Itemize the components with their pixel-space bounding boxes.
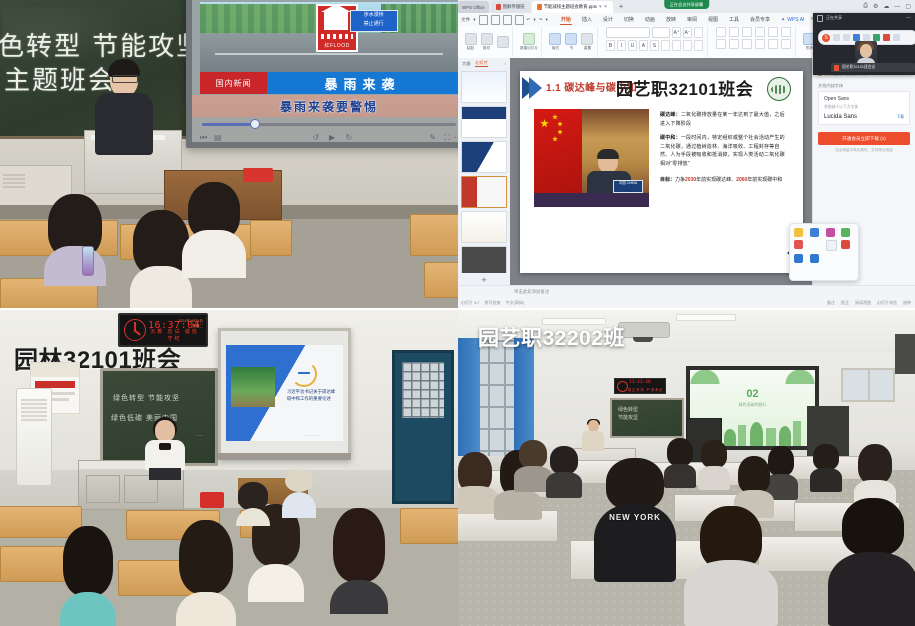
missing-font-section-label: 文档内缺字体 (818, 83, 910, 89)
ppt-icon (537, 4, 542, 10)
news-tag: 国内新闻 (200, 72, 267, 94)
reset-icon (581, 33, 593, 45)
tab-dropdown-icon[interactable]: ▾ (599, 4, 602, 10)
projection-screen: 习近平总书记关于碳达峰碳中和工作的重要论述 — — — — (218, 328, 351, 460)
new-slide-button[interactable]: 新建幻灯片 (520, 33, 538, 51)
underline-button[interactable]: U (628, 40, 637, 51)
thumbnail-slide-4[interactable] (461, 176, 507, 208)
news-headline: 暴雨来袭 (267, 72, 458, 94)
cut-icon (481, 33, 493, 45)
student (44, 194, 106, 286)
flood-label: 红FLOOD (318, 42, 356, 49)
air-conditioner (16, 388, 52, 486)
columns-icon[interactable] (768, 39, 778, 49)
student-seating (0, 200, 458, 308)
student (182, 182, 246, 278)
tab-transition[interactable]: 切换 (623, 15, 635, 24)
panel-lecture-hall: 色转型 节能攻坚 主题班会 红FLOOD 涉水漫桥 禁止通行 (0, 0, 458, 308)
file-menu[interactable]: 文件 (461, 17, 470, 23)
video-progress-handle[interactable] (250, 119, 260, 129)
cta-footnote: 包含海量字体及素材，支持商业用途 (813, 148, 915, 153)
missing-font-1: Open Sans (824, 96, 904, 102)
share-icon (817, 15, 823, 22)
blackboard-signature: ~~~ (196, 433, 203, 438)
screenshot-icon[interactable]: ▤ (214, 133, 222, 142)
current-slide[interactable]: 1.1 碳达峰与碳中和 园艺职32101班会 (520, 71, 803, 273)
pin-icon[interactable] (794, 240, 803, 249)
bullets-icon[interactable] (716, 27, 726, 37)
section-button[interactable]: 节 (565, 33, 578, 51)
thumbnail-slide-1[interactable] (461, 71, 507, 103)
form-icon-2[interactable] (810, 254, 819, 263)
text-direction-icon[interactable] (781, 27, 791, 37)
student-foreground: NEW YORK (594, 458, 676, 582)
gear-icon[interactable]: ⚙ (873, 3, 878, 10)
wps-ai-button[interactable]: ✦ WPS AI (781, 17, 804, 23)
tab-slideshow[interactable]: 放映 (665, 15, 677, 24)
pdf-icon[interactable] (841, 240, 850, 249)
teacher (580, 420, 606, 456)
tab-slides[interactable]: 幻灯片 (475, 60, 488, 67)
spellcheck-status[interactable]: 拼写检查 (485, 300, 501, 306)
slide-paragraph-2: 碳中和：一段时间内，特定组织或整个社会活动产生的二氧化碳，通过植树造林、海洋吸收… (660, 134, 789, 168)
pen-icon[interactable]: ✎ (429, 133, 436, 142)
projection-screen: 红FLOOD 涉水漫桥 禁止通行 国内新闻 暴雨来袭 暴雨来袭要警惕 (186, 0, 458, 148)
slide-number: 02 (746, 388, 758, 400)
chevron-down-icon[interactable]: ▾ (473, 17, 475, 23)
school-emblem-icon (767, 77, 791, 101)
sogou-input-icon[interactable]: S (822, 34, 830, 42)
section-icon (565, 33, 577, 45)
led-time: 11:43:48 (629, 380, 651, 385)
chinese-mode-icon[interactable] (833, 34, 840, 41)
align-right-icon[interactable] (742, 39, 752, 49)
slide-paragraph-1: 碳达峰：二氧化碳排放量在某一年达到了最大值，之后进入下降阶段 (660, 111, 789, 128)
new-slide-icon (523, 33, 535, 45)
font-size-input[interactable] (652, 27, 670, 38)
curtain-left (458, 338, 480, 456)
format-painter-icon[interactable] (515, 15, 524, 25)
font-name-input[interactable] (606, 27, 650, 38)
wave-icon (321, 34, 353, 39)
ai-sparkle-icon: ✦ (781, 17, 785, 23)
tab-design[interactable]: 设计 (602, 15, 614, 24)
rewind-icon[interactable]: ↺ (313, 133, 320, 142)
screen-share-badge: 正在会议共享屏幕 (664, 0, 710, 9)
video-progress-slider[interactable] (202, 123, 456, 126)
justify-icon[interactable] (755, 39, 765, 49)
paste-icon (465, 33, 477, 45)
save-icon[interactable] (479, 15, 488, 25)
font-color-button[interactable] (672, 40, 681, 51)
tab-tools[interactable]: 工具 (728, 15, 740, 24)
reset-button[interactable]: 重置 (581, 33, 594, 51)
form-icon[interactable] (794, 254, 803, 263)
student (458, 452, 498, 514)
language-status[interactable]: 中文(简体) (506, 300, 525, 306)
slideshow-button[interactable]: 放映 (903, 300, 911, 306)
align-left-icon[interactable] (716, 39, 726, 49)
projected-slide: 习近平总书记关于碳达峰碳中和工作的重要论述 — — — — (226, 345, 343, 441)
floating-tool-panel[interactable] (789, 223, 859, 281)
slide-body-text: 碳达峰：二氧化碳排放量在某一年达到了最大值，之后进入下降阶段 碳中和：一段时间内… (660, 111, 789, 185)
news-video-frame: 红FLOOD 涉水漫桥 禁止通行 国内新闻 暴雨来袭 (200, 2, 458, 94)
slide-canvas[interactable]: 1.1 碳达峰与碳中和 园艺职32101班会 (510, 58, 813, 286)
slide-sorter-button[interactable]: 幻灯片浏览 (877, 300, 897, 306)
mic-icon[interactable] (853, 34, 860, 41)
download-cta-button[interactable]: 开通会员立即下载 (1) (818, 132, 910, 145)
tshirt-text: NEW YORK (609, 513, 661, 522)
print-quick-icon[interactable] (491, 15, 500, 25)
student (698, 440, 730, 490)
paste-button[interactable]: 粘贴 (464, 33, 477, 51)
led-scroll-text: 端正考风 严肃考纪 (628, 387, 663, 392)
redo-icon[interactable]: ↷ (539, 17, 543, 23)
tab-animation[interactable]: 动画 (644, 15, 656, 24)
slide-photo (231, 367, 275, 407)
blackboard-text: 绿色转型 节能攻坚 (618, 406, 638, 422)
status-left: 幻灯片 4/7 拼写检查 中文(简体) (461, 300, 524, 306)
thumbnail-slide-2[interactable] (461, 106, 507, 138)
numbering-icon[interactable] (729, 27, 739, 37)
classroom-door (392, 350, 454, 504)
thumbnail-slide-3[interactable] (461, 141, 507, 173)
tab-presentation[interactable]: 节能减排主题班会教育.pptx ▾ ✕ (532, 1, 613, 13)
pen-icon[interactable] (843, 34, 850, 41)
panel-yuanlin-32101: 16:37:04 2024年06月4日 星期二 沉着 应试 诚信 守纪 园林32… (0, 310, 458, 626)
teacher (93, 62, 155, 154)
copy-icon (497, 36, 509, 48)
nameplate: 中国 CHINA (613, 180, 643, 193)
bold-button[interactable]: B (606, 40, 615, 51)
slide-goal-text: 目标：力争2030年前实现碳达峰、2060年前实现碳中和 (660, 176, 789, 185)
undo-icon[interactable]: ↶ (527, 17, 531, 23)
pinyin-button[interactable] (694, 40, 703, 51)
shrink-font-button[interactable]: A⁻ (683, 27, 692, 38)
layout-button[interactable]: 版式 (549, 33, 562, 51)
chart-icon[interactable] (826, 228, 835, 237)
ribbon-group-clipboard: 粘贴 剪切 (461, 27, 513, 57)
blackboard-line-1: 绿色转型 节能攻坚 (113, 393, 180, 403)
chevron-left-icon[interactable]: ‹ (504, 61, 506, 67)
student-foreground (828, 498, 915, 626)
clock-icon (617, 381, 628, 392)
student (810, 444, 842, 492)
comments-toggle[interactable]: 批注 (841, 300, 849, 306)
notes-placeholder[interactable]: 单击此处添加备注 (514, 289, 549, 295)
red-box-on-desk (243, 168, 273, 182)
window-icon[interactable] (826, 240, 837, 251)
house-icon (324, 11, 348, 30)
status-right: 备注 批注 阅读视图 幻灯片浏览 放映 (827, 300, 911, 306)
reading-view-button[interactable]: 阅读视图 (855, 300, 871, 306)
superscript-button[interactable] (661, 40, 670, 51)
thumbnail-list (458, 69, 510, 273)
tab-outline[interactable]: 大纲 (462, 61, 470, 67)
teacher (142, 420, 188, 480)
side-window (841, 368, 895, 402)
tree-canopy-graphic (690, 370, 815, 384)
play-icon[interactable]: ▶ (329, 133, 335, 142)
strikethrough-button[interactable]: S (650, 40, 659, 51)
photo-collage: 色转型 节能攻坚 主题班会 红FLOOD 涉水漫桥 禁止通行 (0, 0, 915, 626)
decrease-indent-icon[interactable] (742, 27, 752, 37)
new-tab-button[interactable]: + (615, 1, 628, 13)
tab-document[interactable]: 图解传播链 (491, 1, 530, 13)
fullscreen-icon[interactable]: ⛶ (444, 133, 450, 143)
slide-text: 习近平总书记关于碳达峰碳中和工作的重要论述 (287, 389, 339, 402)
minimize-icon[interactable]: — (906, 15, 911, 21)
prev-icon[interactable]: ⏮ (200, 133, 207, 143)
calendar-icon[interactable] (810, 228, 819, 237)
panel-yuanyizhi-32202: 园艺职32202班 11:43:48 端正考风 严肃考纪 绿色转型 节能攻坚 0… (458, 310, 915, 626)
student (236, 482, 270, 526)
wps-tabbar: WPS Office 图解传播链 节能减排主题班会教育.pptx ▾ ✕ + 正… (458, 0, 915, 13)
blackboard-line-1: 色转型 节能攻坚 (0, 26, 204, 63)
print-icon[interactable]: ⎙ (863, 3, 868, 10)
wall-speaker (895, 334, 915, 374)
water-bottle (82, 246, 94, 276)
increase-indent-icon[interactable] (755, 27, 765, 37)
cloud-icon[interactable]: ☁ (883, 3, 889, 10)
trees-left (200, 4, 319, 33)
clear-format-button[interactable] (694, 27, 703, 38)
undo-chevron-icon[interactable]: ▾ (533, 17, 535, 23)
road-sign-line-1: 涉水漫桥 (351, 11, 397, 20)
missing-font-2-row: Lucida Sans 下载 (824, 114, 904, 120)
grow-font-button[interactable]: A⁺ (672, 27, 681, 38)
tab-start[interactable]: 开始 (560, 15, 572, 25)
curtain-right (514, 338, 534, 456)
ribbon-group-slides: 新建幻灯片 (517, 27, 542, 57)
student-foreground (684, 506, 778, 626)
notes-toggle[interactable]: 备注 (827, 300, 835, 306)
keyboard-icon[interactable] (863, 34, 870, 41)
maximize-icon[interactable]: ▢ (905, 3, 911, 10)
student (60, 526, 116, 626)
line-spacing-icon[interactable] (768, 27, 778, 37)
road-sign: 涉水漫桥 禁止通行 (350, 10, 398, 32)
settings-icon[interactable] (893, 34, 900, 41)
ceiling-projector (618, 322, 670, 338)
video-caption: 暴雨来袭要警惕 (192, 95, 458, 117)
forward-icon[interactable]: ↻ (345, 133, 352, 142)
wps-statusbar: 单击此处添加备注 幻灯片 4/7 拼写检查 中文(简体) 备注 批注 阅读视图 … (458, 285, 915, 308)
download-font-link[interactable]: 下载 (896, 115, 904, 120)
thumbnail-slide-6[interactable] (461, 246, 507, 273)
tab-wps-home[interactable]: WPS Office (458, 1, 489, 13)
photo-label: 园艺职32202班 (478, 322, 625, 352)
tab-review[interactable]: 审阅 (686, 15, 698, 24)
cut-button[interactable]: 剪切 (480, 33, 493, 51)
close-tab-icon[interactable]: ✕ (604, 4, 608, 10)
doc-icon (496, 4, 501, 10)
slide-arc-graphic (291, 361, 317, 387)
road-sign-line-2: 禁止通行 (351, 20, 397, 29)
video-controls: ⏮ ▤ ↺ ▶ ↻ ✎ ⛶ ⋯ (192, 117, 458, 142)
slide-subtitle: 绿色低碳的践行 (739, 402, 767, 408)
thumbnail-tabs: 大纲 幻灯片 ‹ (458, 58, 510, 69)
meeting-overlay[interactable]: 正在共享 — S 园艺职32101 (813, 13, 915, 75)
print-preview-icon[interactable] (503, 15, 512, 25)
missing-font-card: Open Sans 系统缺少以下方字体 Lucida Sans 下载 (818, 91, 910, 125)
microphone-icon (834, 65, 839, 71)
slide-footer: — — — — (287, 433, 337, 437)
window-controls: ⎙ ⚙ ☁ — ▢ (863, 0, 913, 13)
tab-view[interactable]: 视图 (707, 15, 719, 24)
student (176, 520, 236, 626)
highlight-button[interactable] (683, 40, 692, 51)
screen-bottom-bar (218, 453, 351, 460)
student (282, 470, 316, 518)
clock-icon (124, 319, 146, 341)
ribbon-group-layout: 版式 节 重置 (546, 27, 598, 57)
conference-desk (534, 193, 649, 207)
align-vertical-icon[interactable] (781, 39, 791, 49)
slide-photo: 中国 CHINA (534, 109, 649, 207)
student (546, 446, 582, 498)
slide-main-title: 园艺职32101班会 (616, 75, 753, 100)
panel-wps-office: WPS Office 图解传播链 节能减排主题班会教育.pptx ▾ ✕ + 正… (458, 0, 915, 308)
copy-button[interactable] (496, 36, 509, 48)
leaf-icon[interactable] (841, 228, 850, 237)
red-stool (200, 492, 224, 508)
tab-insert[interactable]: 插入 (581, 15, 593, 24)
align-center-icon[interactable] (729, 39, 739, 49)
shadow-button[interactable]: A (639, 40, 648, 51)
tab-member[interactable]: 会员专享 (749, 15, 771, 24)
blackboard: 绿色转型 节能攻坚 (610, 398, 684, 438)
news-lower-third: 国内新闻 暴雨来袭 (200, 72, 458, 94)
ribbon-group-paragraph (712, 27, 796, 57)
student (330, 508, 388, 614)
led-clock-display: 11:43:48 端正考风 严肃考纪 (614, 378, 666, 394)
video-control-icons: ⏮ ▤ ↺ ▶ ↻ ✎ ⛶ ⋯ (192, 133, 458, 147)
toolbox-icon[interactable] (883, 34, 890, 41)
italic-button[interactable]: I (617, 40, 626, 51)
slide-counter: 幻灯片 4/7 (461, 300, 480, 306)
spacer-slot (810, 240, 819, 249)
redo-chevron-icon[interactable]: ▾ (546, 17, 548, 23)
slide-thumbnail-panel: 大纲 幻灯片 ‹ + (458, 58, 511, 286)
thumbnail-slide-5[interactable] (461, 211, 507, 243)
emoji-icon[interactable] (873, 34, 880, 41)
meeting-titlebar: 正在共享 — (813, 13, 915, 23)
missing-font-note: 系统缺少以下方字体 (824, 105, 904, 110)
ribbon-group-font: A⁺ A⁻ B I U A S (602, 27, 708, 57)
layout-icon (549, 33, 561, 45)
note-icon[interactable] (794, 228, 803, 237)
ribbon-tabs: 开始 插入 设计 切换 动画 放映 审阅 视图 工具 会员专享 (560, 15, 771, 25)
participant-namebar: 园艺职32101班会议 (831, 63, 915, 72)
chevron-decoration-2-icon (529, 77, 542, 99)
minimize-icon[interactable]: — (894, 4, 900, 10)
